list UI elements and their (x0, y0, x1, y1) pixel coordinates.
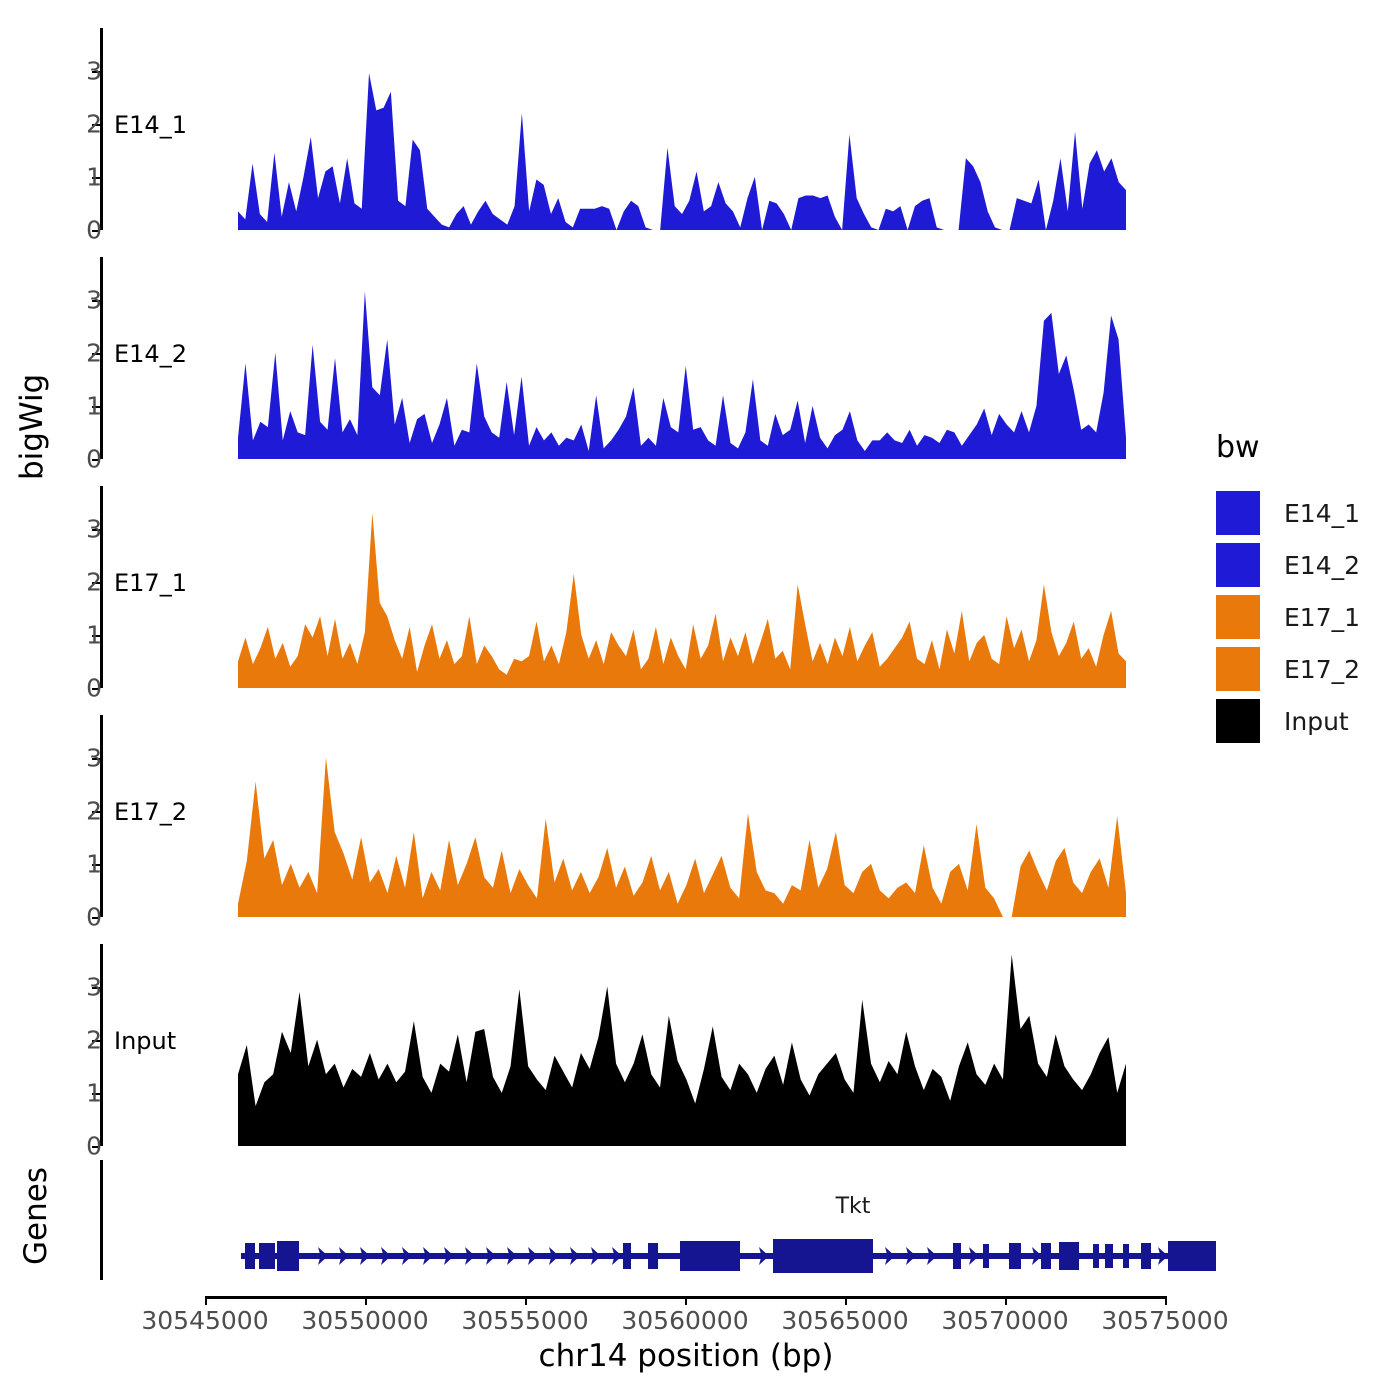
legend-label: E14_2 (1284, 551, 1360, 580)
x-tick-label: 30570000 (941, 1306, 1068, 1335)
x-tick (525, 1296, 527, 1305)
y-tick-label: 3 (86, 743, 102, 772)
bigwig-genome-browser-figure: bigWig Genes 0123E14_10123E14_20123E17_1… (0, 0, 1400, 1400)
legend-label: E17_2 (1284, 655, 1360, 684)
y-tick-label: 3 (86, 972, 102, 1001)
legend-swatch-e17_2 (1216, 647, 1260, 691)
legend-swatch-input (1216, 699, 1260, 743)
legend-label: E17_1 (1284, 603, 1360, 632)
x-tick (205, 1296, 207, 1305)
legend: bw E14_1E14_2E17_1E17_2Input (1216, 430, 1360, 747)
x-tick (1005, 1296, 1007, 1305)
panel-series-label: E14_1 (114, 111, 187, 139)
signal-panel-e17_1: 0123E17_1 (100, 486, 1126, 688)
x-tick (845, 1296, 847, 1305)
gene-track-panel: Tkt (100, 1160, 1130, 1280)
y-tick-label: 1 (86, 162, 102, 191)
legend-swatch-e17_1 (1216, 595, 1260, 639)
signal-area-e14_1[interactable] (238, 28, 1126, 230)
y-tick-label: 2 (86, 109, 102, 138)
x-tick (365, 1296, 367, 1305)
signal-area-e17_1[interactable] (238, 486, 1126, 688)
signal-panel-e14_2: 0123E14_2 (100, 257, 1126, 459)
y-tick-label: 0 (86, 445, 102, 474)
legend-swatch-e14_1 (1216, 491, 1260, 535)
y-tick-label: 2 (86, 796, 102, 825)
y-tick-label: 3 (86, 285, 102, 314)
y-tick-label: 0 (86, 1132, 102, 1161)
y-tick-label: 0 (86, 674, 102, 703)
signal-panel-e14_1: 0123E14_1 (100, 28, 1126, 230)
x-tick-label: 30565000 (781, 1306, 908, 1335)
y-tick-label: 1 (86, 849, 102, 878)
x-tick-label: 30575000 (1101, 1306, 1228, 1335)
legend-items: E14_1E14_2E17_1E17_2Input (1216, 487, 1360, 747)
y-tick-label: 1 (86, 391, 102, 420)
legend-label: E14_1 (1284, 499, 1360, 528)
x-tick-label: 30560000 (621, 1306, 748, 1335)
y-tick-label: 2 (86, 567, 102, 596)
y-tick-label: 2 (86, 338, 102, 367)
x-axis-title: chr14 position (bp) (539, 1338, 834, 1374)
legend-item-e14_2[interactable]: E14_2 (1216, 539, 1360, 591)
panel-series-label: Input (114, 1027, 176, 1055)
signal-area-e14_2[interactable] (238, 257, 1126, 459)
legend-item-e17_2[interactable]: E17_2 (1216, 643, 1360, 695)
y-tick-label: 0 (86, 216, 102, 245)
y-tick-label: 0 (86, 903, 102, 932)
x-tick-label: 30555000 (461, 1306, 588, 1335)
legend-item-e14_1[interactable]: E14_1 (1216, 487, 1360, 539)
y-tick-label: 1 (86, 620, 102, 649)
panel-series-label: E17_1 (114, 569, 187, 597)
signal-area-input[interactable] (238, 944, 1126, 1146)
gene-track-axis-line (100, 1160, 103, 1280)
x-tick-label: 30545000 (141, 1306, 268, 1335)
x-tick-label: 30550000 (301, 1306, 428, 1335)
signal-panel-input: 0123Input (100, 944, 1126, 1146)
panel-series-label: E17_2 (114, 798, 187, 826)
y-tick-label: 3 (86, 514, 102, 543)
legend-item-input[interactable]: Input (1216, 695, 1360, 747)
legend-label: Input (1284, 707, 1349, 736)
y-tick-label: 2 (86, 1025, 102, 1054)
y-axis-title: bigWig (14, 374, 50, 480)
x-tick (685, 1296, 687, 1305)
legend-title: bw (1216, 430, 1360, 465)
panel-series-label: E14_2 (114, 340, 187, 368)
signal-panel-e17_2: 0123E17_2 (100, 715, 1126, 917)
gene-model[interactable] (193, 1160, 1233, 1280)
legend-item-e17_1[interactable]: E17_1 (1216, 591, 1360, 643)
y-tick-label: 3 (86, 56, 102, 85)
genes-axis-title: Genes (18, 1167, 54, 1265)
x-tick (1165, 1296, 1167, 1305)
legend-swatch-e14_2 (1216, 543, 1260, 587)
signal-area-e17_2[interactable] (238, 715, 1126, 917)
y-tick-label: 1 (86, 1078, 102, 1107)
